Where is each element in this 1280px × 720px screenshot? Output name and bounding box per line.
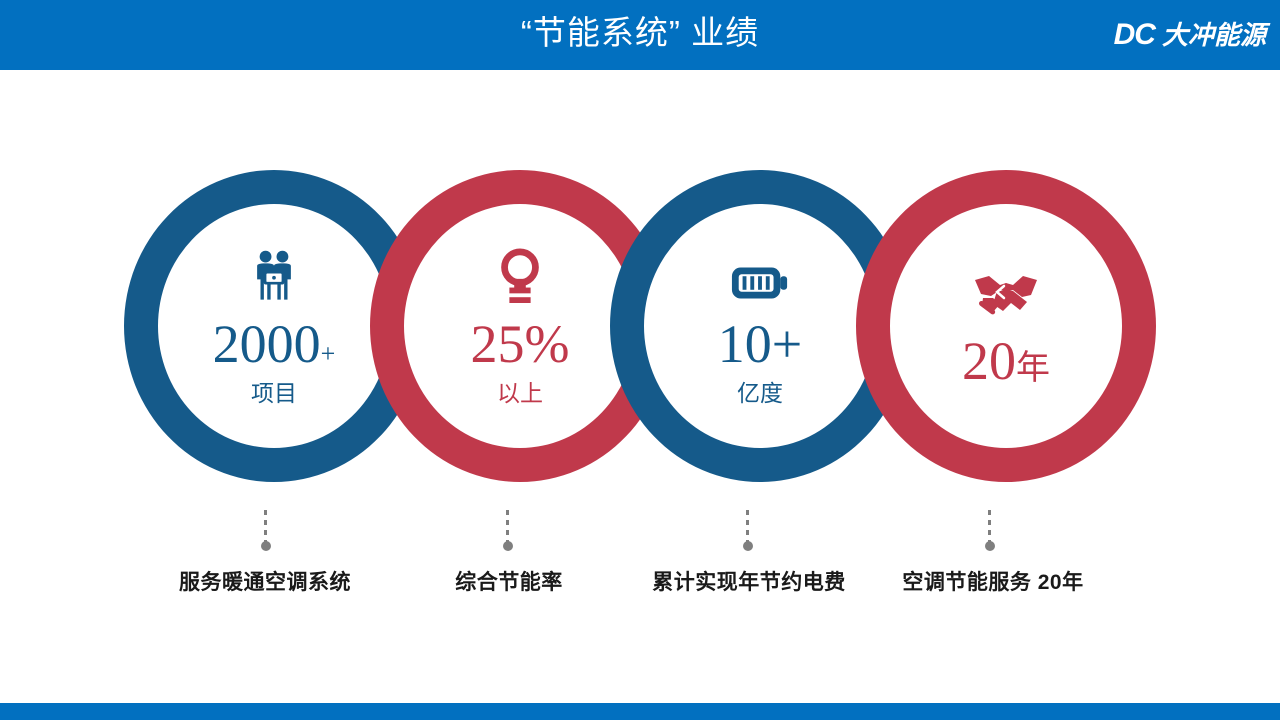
caption-4: 空调节能服务 20年	[902, 566, 1083, 596]
ring-3-value-number: 10+	[718, 314, 802, 374]
connector-dot-3	[743, 541, 753, 551]
ring-4-value: 20年	[962, 334, 1050, 388]
ring-4-value-suffix: 年	[1016, 349, 1050, 387]
ring-2-value-number: 25%	[471, 314, 570, 374]
ring-4-value-number: 20	[962, 331, 1016, 391]
caption-1: 服务暖通空调系统	[179, 566, 351, 596]
ring-3-content: 10+ 亿度	[644, 204, 876, 448]
connector-dot-4	[985, 541, 995, 551]
ring-2-content: 25% 以上	[404, 204, 636, 448]
ring-4: 20年	[856, 170, 1156, 482]
logo-mark-text: DC	[1114, 20, 1155, 50]
battery-icon	[730, 247, 790, 303]
ring-3-unit: 亿度	[737, 382, 783, 405]
lightbulb-icon	[496, 247, 544, 303]
ring-4-content: 20年	[890, 204, 1122, 448]
ring-1-value-number: 2000	[213, 314, 321, 374]
connector-line-4	[988, 510, 991, 543]
brand-logo: DC 大冲能源	[1114, 14, 1266, 56]
connector-line-2	[506, 510, 509, 543]
connector-line-3	[746, 510, 749, 543]
caption-2: 综合节能率	[455, 566, 563, 596]
ring-1-value: 2000+	[213, 317, 336, 371]
caption-3: 累计实现年节约电费	[652, 566, 846, 596]
page-title: “节能系统” 业绩	[0, 0, 1280, 70]
ring-1-value-suffix: +	[321, 339, 336, 368]
ring-2-value: 25%	[471, 317, 570, 371]
footer-bar	[0, 703, 1280, 720]
logo-company-name: 大冲能源	[1162, 22, 1266, 48]
connector-line-1	[264, 510, 267, 543]
connector-dot-1	[261, 541, 271, 551]
two-people-icon	[247, 247, 301, 303]
ring-2-unit: 以上	[497, 382, 543, 405]
connector-dot-2	[503, 541, 513, 551]
rings-infographic: 2000+ 项目 25% 以上	[0, 70, 1280, 703]
ring-1-content: 2000+ 项目	[158, 204, 390, 448]
handshake-icon	[973, 264, 1039, 320]
ring-1-unit: 项目	[251, 382, 297, 405]
ring-3-value: 10+	[718, 317, 802, 371]
header-bar: “节能系统” 业绩 DC 大冲能源	[0, 0, 1280, 70]
